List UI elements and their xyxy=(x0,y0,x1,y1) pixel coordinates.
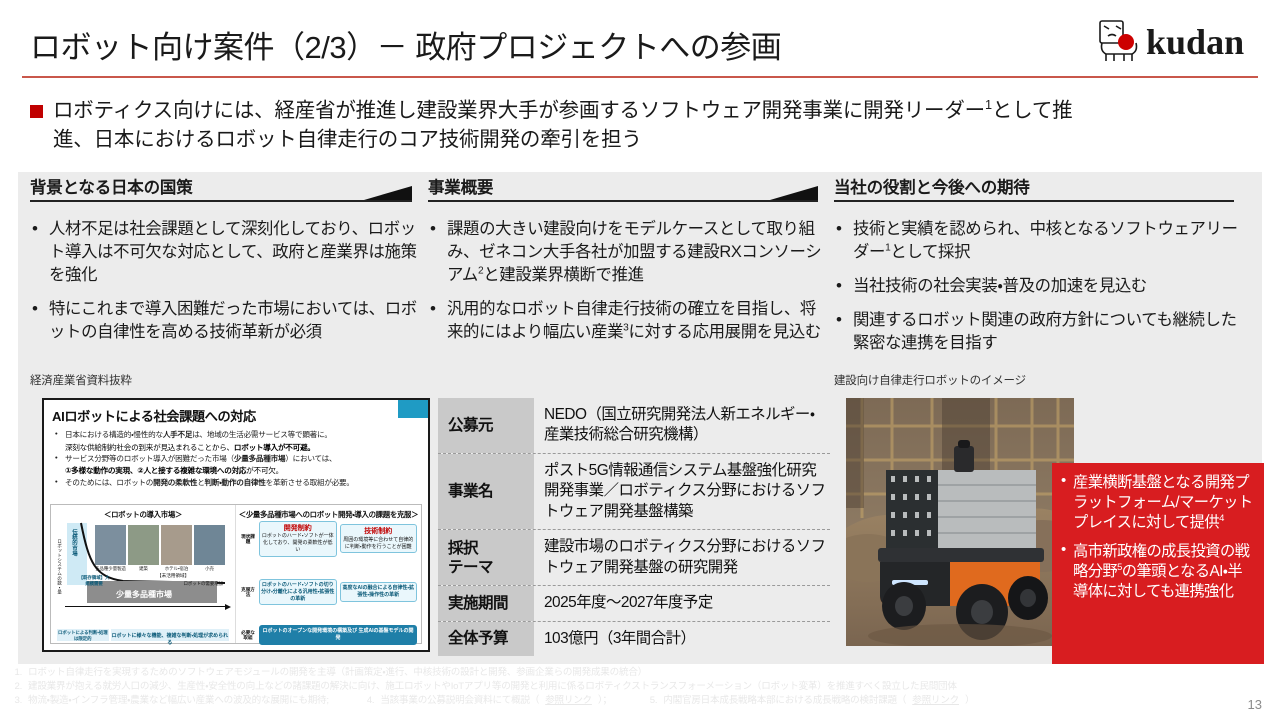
figure-corner-tab xyxy=(398,400,428,418)
svg-text:kudan: kudan xyxy=(1146,22,1244,62)
arrow-right-icon xyxy=(364,186,412,200)
list-item: サービス分野等のロボット導入が困難だった市場（少量多品種市場）においては、 xyxy=(54,453,420,465)
footnote-text: ロボット自律走行を実現するためのソフトウェアモジュールの開発を主導（計画策定・進… xyxy=(28,666,647,680)
table-row-value: ポスト5G情報通信システム基盤強化研究開発事業／ロボティクス分野におけるソフトウ… xyxy=(534,454,830,529)
list-item: 課題の大きい建設向けをモデルケースとして取り組み、ゼネコン大手各社が加盟する建設… xyxy=(428,218,826,287)
robot-photo-illustration xyxy=(846,398,1074,646)
column-3-header: 当社の役割と今後への期待 xyxy=(834,172,1250,206)
list-item: そのためには、ロボットの開発の柔軟性と判断・動作の自律性を革新させる取組が必要。 xyxy=(54,477,420,489)
column-2-heading: 事業概要 xyxy=(428,174,493,198)
matrix-cell-heading: 技術制約 xyxy=(342,527,416,536)
market-curve-area: ロボットシステムの数・量 伝統的市場 多品種少量製造 xyxy=(57,521,231,617)
column-1-caption: 経済産業省資料抜粋 xyxy=(30,372,132,388)
table-row-key: 実施期間 xyxy=(438,586,534,620)
page-number: 13 xyxy=(1248,697,1262,712)
matrix-row-2: 克服方法 ロボットのハード・ソフトの切り分け・分離化による汎用性・拡張性の革新 … xyxy=(240,579,417,605)
meti-figure-title: AIロボットによる社会課題への対応 xyxy=(52,406,428,425)
list-item: 日本における構造的・慢性的な人手不足は、地域の生活必需サービス等で顕著に。 xyxy=(54,429,420,441)
footnote-spacer xyxy=(618,694,644,708)
table-row: 事業名 ポスト5G情報通信システム基盤強化研究開発事業／ロボティクス分野における… xyxy=(438,453,830,529)
matrix-row-3: 必要な取組 ロボットのオープンな開発環境の構築及び 生成AIの基盤モデルの開発 xyxy=(240,625,417,645)
table-row-key: 全体予算 xyxy=(438,622,534,656)
footnote-number: 1. xyxy=(6,666,22,680)
table-row: 実施期間 2025年度〜2027年度予定 xyxy=(438,585,830,620)
market-curve-panel: ＜ロボットの導入市場＞ ロボットシステムの数・量 伝統的市場 xyxy=(51,505,236,643)
table-row-value: 建設市場のロボティクス分野におけるソフトウェア開発基盤の研究開発 xyxy=(534,530,830,585)
footnotes: 1. ロボット自律走行を実現するためのソフトウェアモジュールの開発を主導（計画策… xyxy=(6,666,1216,709)
footnote-text-5-end: ） xyxy=(965,694,974,708)
table-row-key: 採択 テーマ xyxy=(438,530,534,585)
column-3-heading: 当社の役割と今後への期待 xyxy=(834,174,1030,198)
list-item: 高市新政権の成長投資の戦略分野5の筆頭となるAI・半導体に対しても連携強化 xyxy=(1060,542,1254,602)
bottom-note-left: ロボットによる判断・処理は限定的 xyxy=(57,629,109,641)
note-existing-domain: 【既存領域】大規模需要 xyxy=(77,575,111,587)
matrix-cell: 技術制約 周囲の環境等に合わせて自律的に判断・動作を行うことが困難 xyxy=(340,524,418,553)
note-demand-increase: ロボットの需要増加 xyxy=(183,581,223,587)
list-item: 産業横断基盤となる開発プラットフォーム/マーケットプレイスに対して提供4 xyxy=(1060,473,1254,533)
column-3-bullets: 技術と実績を認められ、中核となるソフトウェアリーダー1として採択 当社技術の社会… xyxy=(834,218,1250,355)
traditional-market-label: 伝統的市場 xyxy=(70,529,78,556)
challenge-matrix-title: ＜少量多品種市場へのロボット開発・導入の課題を克服＞ xyxy=(236,509,421,520)
column-3-rule xyxy=(834,200,1234,202)
matrix-row-label: 現状課題 xyxy=(240,534,256,544)
market-curve-title: ＜ロボットの導入市場＞ xyxy=(51,509,235,520)
mass-market-label: 少量多品種市場 xyxy=(57,589,231,600)
column-1-heading: 背景となる日本の国策 xyxy=(30,174,193,198)
footnote-text: 建設業界が抱える就労人口の減少、生産性・安全性の向上などの諸課題の解決に向け、施… xyxy=(28,680,957,694)
lead-line1-b: として推 xyxy=(992,99,1073,122)
title-divider xyxy=(22,76,1258,78)
matrix-cell: ロボットのハード・ソフトの切り分け・分離化による汎用性・拡張性の革新 xyxy=(259,579,337,605)
matrix-cell-body: 周囲の環境等に合わせて自律的に判断・動作を行うことが困難 xyxy=(342,537,416,551)
robot-photo xyxy=(846,398,1074,646)
kudan-logo-icon: kudan xyxy=(1094,16,1264,68)
column-3-caption: 建設向け自律走行ロボットのイメージ xyxy=(834,372,1026,388)
reference-link[interactable]: 参照リンク xyxy=(545,694,592,708)
lead-footnote-ref-1: 1 xyxy=(985,97,992,112)
table-row: 全体予算 103億円（3年間合計） xyxy=(438,621,830,656)
column-2-header: 事業概要 xyxy=(428,172,826,206)
table-row: 公募元 NEDO（国立研究開発法人新エネルギー・産業技術総合研究機構） xyxy=(438,398,830,453)
list-item: 関連するロボット関連の政府方針についても継続した緊密な連携を目指す xyxy=(834,309,1250,355)
meti-sub-2: ①多様な動作の実現、②人と接する複雑な環境への対応が不可欠。 xyxy=(54,465,420,476)
matrix-row-1: 現状課題 開発制約 ロボットのハード・ソフトが一体化しており、開発の柔軟性が低い… xyxy=(240,521,417,557)
table-row-value: 2025年度〜2027年度予定 xyxy=(534,586,830,620)
column-1-header: 背景となる日本の国策 xyxy=(30,172,420,206)
footnote-number: 2. xyxy=(6,680,22,694)
x-axis-arrow-icon xyxy=(225,604,231,610)
footnote-text-3a: 物流・製造・インフラ管理・農業など幅広い産業への波及的な展開にも期待; xyxy=(28,694,329,708)
footnote-number: 3. xyxy=(6,694,22,708)
footnote-number-5: 5. xyxy=(650,694,658,708)
meti-figure-diagram: ＜ロボットの導入市場＞ ロボットシステムの数・量 伝統的市場 xyxy=(50,504,422,644)
matrix-cell-body: ロボットのハード・ソフトが一体化しており、開発の柔軟性が低い xyxy=(261,533,335,553)
footnote-number-4: 4. xyxy=(367,694,375,708)
table-row-key: 事業名 xyxy=(438,454,534,529)
x-axis-line xyxy=(65,606,227,607)
project-spec-table: 公募元 NEDO（国立研究開発法人新エネルギー・産業技術総合研究機構） 事業名 … xyxy=(438,398,830,656)
list-item: 汎用的なロボット自律走行技術の確立を目指し、将来的にはより幅広い産業3に対する応… xyxy=(428,298,826,344)
slide-root: ロボット向け案件（2/3）－ 政府プロジェクトへの参画 kudan ロボティクス… xyxy=(0,0,1280,720)
square-bullet-icon xyxy=(30,105,43,118)
list-item: 技術と実績を認められ、中核となるソフトウェアリーダー1として採択 xyxy=(834,218,1250,264)
footnote-line: 1. ロボット自律走行を実現するためのソフトウェアモジュールの開発を主導（計画策… xyxy=(6,666,1216,680)
meti-sub-1: 深刻な供給制約社会の到来が見込まれることから、ロボット導入が不可避。 xyxy=(54,442,420,453)
lead-line2: 進、日本におけるロボット自律走行のコア技術開発の牽引を担う xyxy=(53,128,642,151)
kudan-logo: kudan xyxy=(1094,16,1264,68)
lead-line1-a: ロボティクス向けには、経産省が推進し建設業界大手が参画するソフトウェア開発事業に… xyxy=(53,99,985,122)
matrix-row-label: 克服方法 xyxy=(240,587,256,597)
matrix-cell: 高度なAIの融合による自律性・拡張性・操作性の革新 xyxy=(340,582,418,602)
table-row-key: 公募元 xyxy=(438,398,534,453)
footnote-line: 3. 物流・製造・インフラ管理・農業など幅広い産業への波及的な展開にも期待; 4… xyxy=(6,694,1216,708)
list-item: 特にこれまで導入困難だった市場においては、ロボットの自律性を高める技術革新が必須 xyxy=(30,298,420,344)
red-callout-box: 産業横断基盤となる開発プラットフォーム/マーケットプレイスに対して提供4 高市新… xyxy=(1052,463,1264,664)
bottom-note-right: ロボットに様々な機能、複雑な判断・処理が求められる xyxy=(111,629,229,641)
table-row-value: 103億円（3年間合計） xyxy=(534,622,830,656)
column-2-rule xyxy=(428,200,818,202)
challenge-matrix-panel: ＜少量多品種市場へのロボット開発・導入の課題を克服＞ 現状課題 開発制約 ロボッ… xyxy=(236,505,421,643)
table-row: 採択 テーマ 建設市場のロボティクス分野におけるソフトウェア開発基盤の研究開発 xyxy=(438,529,830,585)
footnote-spacer xyxy=(335,694,361,708)
column-2-bullets: 課題の大きい建設向けをモデルケースとして取り組み、ゼネコン大手各社が加盟する建設… xyxy=(428,218,826,344)
meti-reference-figure: AIロボットによる社会課題への対応 日本における構造的・慢性的な人手不足は、地域… xyxy=(42,398,430,652)
footnote-text-4-end: ）； xyxy=(598,694,612,708)
arrow-right-icon xyxy=(770,186,818,200)
column-1-bullets: 人材不足は社会課題として深刻化しており、ロボット導入は不可欠な対応として、政府と… xyxy=(30,218,420,344)
meti-figure-bullets: 日本における構造的・慢性的な人手不足は、地域の生活必需サービス等で顕著に。 深刻… xyxy=(54,429,420,488)
list-item: 当社技術の社会実装・普及の加速を見込む xyxy=(834,275,1250,298)
matrix-row-label: 必要な取組 xyxy=(240,630,256,640)
y-axis-label: ロボットシステムの数・量 xyxy=(57,539,62,594)
list-item: 人材不足は社会課題として深刻化しており、ロボット導入は不可欠な対応として、政府と… xyxy=(30,218,420,287)
column-1-rule xyxy=(30,200,412,202)
matrix-cell: 開発制約 ロボットのハード・ソフトが一体化しており、開発の柔軟性が低い xyxy=(259,521,337,557)
footnote-line: 2. 建設業界が抱える就労人口の減少、生産性・安全性の向上などの諸課題の解決に向… xyxy=(6,680,1216,694)
footnote-text-5: 内閣官房日本成長戦略本部における成長戦略の検討課題（ xyxy=(663,694,906,708)
reference-link[interactable]: 参照リンク xyxy=(912,694,959,708)
column-background: 背景となる日本の国策 人材不足は社会課題として深刻化しており、ロボット導入は不可… xyxy=(30,172,420,664)
column-background: 事業概要 課題の大きい建設向けをモデルケースとして取り組み、ゼネコン大手各社が加… xyxy=(428,172,826,664)
market-bottom-strip: ロボットによる判断・処理は限定的 ロボットに様々な機能、複雑な判断・処理が求めら… xyxy=(57,629,229,641)
title-row: ロボット向け案件（2/3）－ 政府プロジェクトへの参画 xyxy=(0,0,1280,78)
page-title: ロボット向け案件（2/3）－ 政府プロジェクトへの参画 xyxy=(30,22,781,67)
note-unexplored-domain: 【未活用領域】 xyxy=(157,573,189,579)
lead-bullet: ロボティクス向けには、経産省が推進し建設業界大手が参画するソフトウェア開発事業に… xyxy=(30,96,1245,154)
lead-bullet-text: ロボティクス向けには、経産省が推進し建設業界大手が参画するソフトウェア開発事業に… xyxy=(53,96,1072,154)
footnote-text-4: 当該事業の公募説明会資料にて概説（ xyxy=(380,694,539,708)
matrix-cell: ロボットのオープンな開発環境の構築及び 生成AIの基盤モデルの開発 xyxy=(259,625,417,645)
table-row-value: NEDO（国立研究開発法人新エネルギー・産業技術総合研究機構） xyxy=(534,398,830,453)
callout-list: 産業横断基盤となる開発プラットフォーム/マーケットプレイスに対して提供4 高市新… xyxy=(1060,473,1254,602)
